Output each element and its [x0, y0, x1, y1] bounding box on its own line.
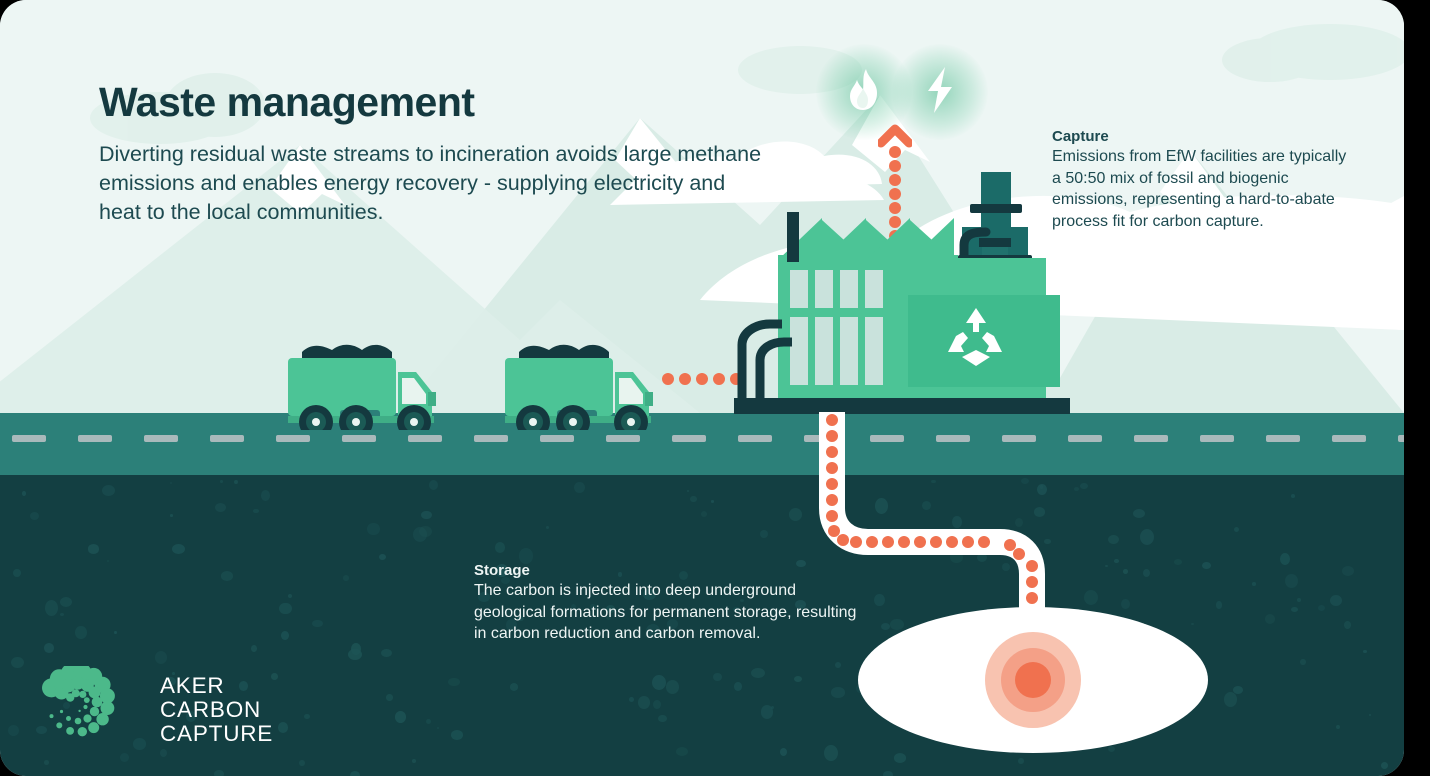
waste-truck-1	[280, 330, 455, 430]
road-dash	[342, 435, 376, 442]
underground-speck	[760, 530, 768, 538]
underground-speck	[351, 643, 361, 655]
co2-dot	[826, 414, 838, 426]
logo-dot	[78, 710, 80, 712]
logo-dot	[89, 687, 101, 699]
road-dash	[276, 435, 310, 442]
co2-dot	[826, 478, 838, 490]
logo-dot	[90, 707, 99, 716]
underground-speck	[1140, 529, 1154, 545]
underground-speck	[1216, 601, 1222, 608]
underground-speck	[761, 705, 774, 719]
flame-icon	[844, 68, 884, 114]
logo-dot	[83, 705, 87, 709]
co2-dot	[1013, 548, 1025, 560]
logo-dot	[75, 718, 82, 725]
road-dash	[540, 435, 574, 442]
underground-speck	[1363, 650, 1367, 653]
capture-callout: Capture Emissions from EfW facilities ar…	[1052, 128, 1352, 232]
logo-dot	[92, 697, 103, 708]
underground-speck	[658, 715, 667, 722]
road-band	[0, 413, 1404, 475]
underground-speck	[172, 544, 185, 554]
page-subtitle: Diverting residual waste streams to inci…	[99, 140, 769, 227]
co2-dot	[1026, 576, 1038, 588]
underground-speck	[1342, 566, 1353, 576]
co2-dot	[946, 536, 958, 548]
underground-speck	[1297, 598, 1301, 603]
underground-speck	[638, 696, 650, 709]
road-dash	[78, 435, 112, 442]
co2-dot	[962, 536, 974, 548]
capture-callout-heading: Capture	[1052, 128, 1352, 145]
underground-speck	[8, 725, 19, 736]
underground-speck	[629, 697, 634, 702]
underground-speck	[451, 730, 463, 740]
co2-dot	[978, 536, 990, 548]
underground-speck	[312, 620, 323, 628]
road-dash	[474, 435, 508, 442]
road-dash	[210, 435, 244, 442]
underground-speck	[429, 480, 438, 490]
underground-speck	[170, 514, 173, 516]
infographic-card: Waste management Diverting residual wast…	[0, 0, 1404, 776]
underground-speck	[713, 673, 722, 681]
road-dash	[1134, 435, 1168, 442]
aker-logo-mark	[42, 666, 152, 738]
underground-speck	[221, 571, 233, 580]
co2-dot	[826, 430, 838, 442]
underground-speck	[44, 760, 49, 765]
co2-dot	[898, 536, 910, 548]
underground-speck	[437, 727, 439, 729]
co2-dot	[1026, 560, 1038, 572]
underground-speck	[510, 683, 518, 690]
co2-dot	[837, 534, 849, 546]
co2-dot	[826, 446, 838, 458]
underground-speck	[251, 645, 257, 652]
road-dash	[738, 435, 772, 442]
underground-speck	[1174, 559, 1182, 565]
underground-speck	[1114, 559, 1119, 563]
emissions-arrow	[878, 124, 912, 148]
waste-feed-dot	[696, 373, 708, 385]
bolt-icon	[922, 66, 958, 114]
underground-speck	[780, 748, 787, 756]
logo-dot	[83, 714, 91, 722]
logo-dot	[66, 727, 74, 735]
co2-dot	[826, 494, 838, 506]
waste-truck-2	[497, 330, 672, 430]
underground-speck	[281, 631, 289, 640]
underground-speck	[75, 626, 86, 638]
underground-speck	[60, 597, 73, 608]
co2-dot	[930, 536, 942, 548]
underground-speck	[343, 575, 349, 581]
underground-speck	[421, 511, 432, 520]
underground-speck	[120, 753, 129, 762]
co2-dot	[866, 536, 878, 548]
underground-speck	[299, 760, 305, 766]
underground-speck	[253, 509, 258, 513]
underground-speck	[278, 722, 288, 733]
underground-speck	[1300, 659, 1306, 666]
underground-speck	[88, 544, 100, 553]
road-dash	[606, 435, 640, 442]
infographic-canvas: Waste management Diverting residual wast…	[0, 0, 1430, 776]
road-dash	[1200, 435, 1234, 442]
underground-speck	[1105, 565, 1108, 567]
underground-speck	[214, 770, 224, 776]
underground-speck	[279, 603, 292, 615]
underground-speck	[1369, 714, 1371, 716]
underground-speck	[687, 490, 689, 492]
underground-speck	[11, 657, 24, 668]
underground-speck	[412, 759, 416, 764]
underground-speck	[1224, 692, 1237, 707]
underground-speck	[220, 480, 222, 483]
underground-speck	[426, 719, 431, 724]
logo-dot	[56, 722, 62, 728]
aker-logo-wordmark: AKER CARBON CAPTURE	[160, 674, 273, 746]
waste-feed-dot	[713, 373, 725, 385]
underground-speck	[133, 738, 146, 749]
underground-speck	[831, 687, 845, 697]
capture-callout-body: Emissions from EfW facilities are typica…	[1052, 146, 1352, 232]
logo-dot	[88, 722, 99, 733]
road-dash	[12, 435, 46, 442]
page-title: Waste management	[99, 79, 475, 126]
logo-dot	[60, 710, 63, 713]
co2-dot	[882, 536, 894, 548]
underground-speck	[102, 485, 115, 496]
waste-feed-dot	[679, 373, 691, 385]
road-dash	[1266, 435, 1300, 442]
co2-dot	[826, 462, 838, 474]
emission-dot	[889, 146, 901, 158]
underground-speck	[690, 496, 696, 502]
logo-dot	[79, 691, 86, 698]
logo-dot	[101, 701, 115, 715]
underground-speck	[381, 649, 392, 657]
logo-dot	[66, 716, 71, 721]
underground-speck	[711, 500, 714, 502]
underground-speck	[666, 680, 680, 694]
logo-dot	[72, 689, 80, 697]
underground-speck	[1108, 535, 1119, 544]
co2-dot	[914, 536, 926, 548]
road-dash	[672, 435, 706, 442]
underground-speck	[883, 771, 893, 776]
logo-dot	[96, 713, 108, 725]
co2-dot	[826, 510, 838, 522]
co2-dot	[850, 536, 862, 548]
underground-speck	[1344, 621, 1351, 629]
underground-speck	[824, 745, 838, 761]
geological-storage-reservoir	[853, 590, 1213, 770]
underground-speck	[1123, 569, 1128, 574]
underground-speck	[574, 482, 584, 493]
underground-speck	[350, 771, 360, 776]
logo-line-1: AKER CARBON	[160, 674, 273, 722]
underground-speck	[367, 523, 379, 536]
logo-line-2: CAPTURE	[160, 722, 273, 746]
road-dash	[1398, 435, 1404, 442]
underground-speck	[304, 714, 309, 719]
underground-speck	[386, 694, 392, 701]
efw-facility	[730, 160, 1070, 430]
underground-speck	[652, 675, 666, 690]
underground-speck	[653, 700, 661, 710]
logo-dot	[78, 727, 87, 736]
underground-speck	[751, 668, 764, 678]
road-dash	[408, 435, 442, 442]
underground-speck	[1280, 553, 1290, 565]
road-dash	[144, 435, 178, 442]
logo-dot	[50, 714, 54, 718]
injection-point	[1015, 662, 1051, 698]
waste-feed-dot	[662, 373, 674, 385]
underground-speck	[1318, 605, 1325, 611]
underground-speck	[44, 643, 54, 652]
road-dash	[1332, 435, 1366, 442]
underground-speck	[45, 600, 58, 616]
logo-dot	[84, 697, 90, 703]
